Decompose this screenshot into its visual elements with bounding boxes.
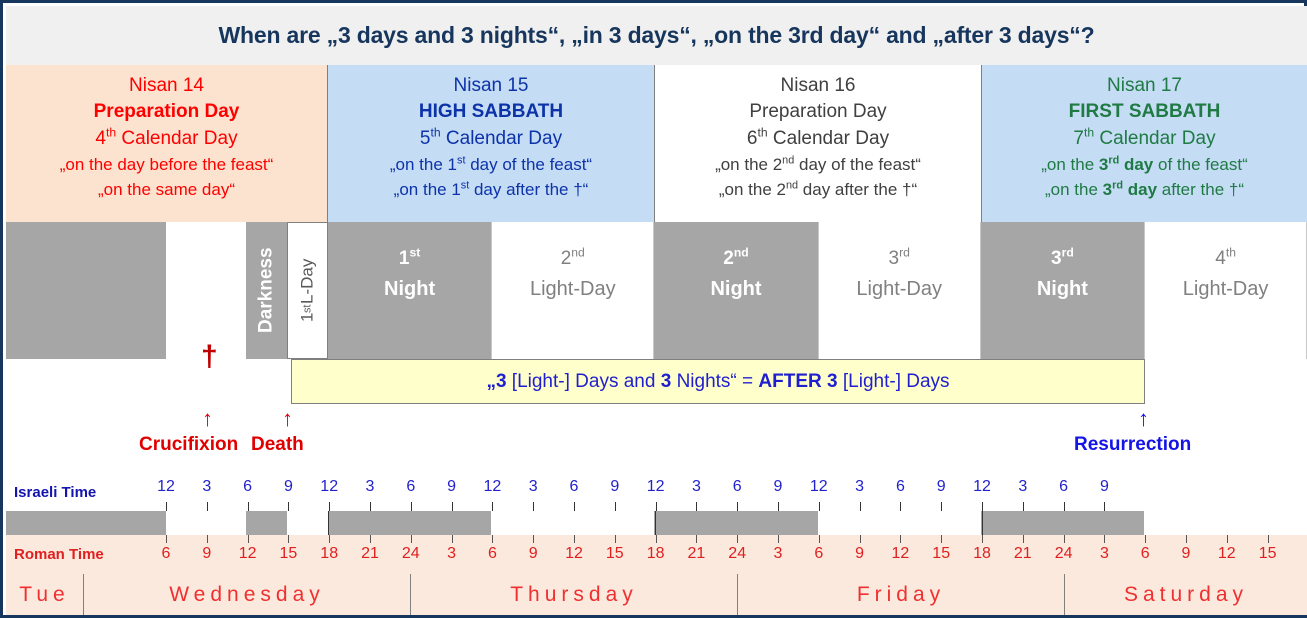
day-kind-label: FIRST SABBATH <box>1069 99 1221 125</box>
day-column-1: Nisan 14Preparation Day4th Calendar Day„… <box>6 65 328 222</box>
roman-tick-mark <box>1064 535 1065 543</box>
event-label-death: Death <box>251 434 304 456</box>
roman-tick-label: 12 <box>565 545 583 563</box>
timeline-block-6: 4thLight-Day <box>1144 222 1307 359</box>
israeli-tick-mark <box>248 502 249 511</box>
israeli-tick-label: 9 <box>1100 478 1109 496</box>
roman-tick-label: 9 <box>855 545 864 563</box>
timeline-band: Darkness1st L-Day1stNight2ndLight-Day2nd… <box>6 222 1307 406</box>
israeli-tick-mark <box>166 502 167 511</box>
israeli-tick-label: 6 <box>243 478 252 496</box>
roman-tick-mark <box>288 535 289 543</box>
israeli-tick-label: 9 <box>774 478 783 496</box>
israeli-tick-mark <box>982 502 983 511</box>
israeli-tick-mark <box>1064 502 1065 511</box>
timeline-block-label: 4thLight-Day <box>1145 244 1306 305</box>
feast-note-2: „on the 2nd day after the †“ <box>719 177 917 202</box>
roman-tick-mark <box>982 535 983 543</box>
israeli-tick-mark <box>370 502 371 511</box>
israeli-tick-label: 9 <box>447 478 456 496</box>
roman-tick-label: 24 <box>402 545 420 563</box>
arrow-up-icon-resurrection: ↑ <box>1138 408 1149 430</box>
roman-tick-mark <box>941 535 942 543</box>
day-kind-label: Preparation Day <box>749 99 886 125</box>
roman-tick-mark <box>411 535 412 543</box>
calendar-day-label: 5th Calendar Day <box>420 125 562 152</box>
cross-icon: † <box>201 342 218 372</box>
roman-tick-label: 9 <box>529 545 538 563</box>
roman-tick-label: 21 <box>361 545 379 563</box>
roman-tick-label: 15 <box>1259 545 1277 563</box>
israeli-tick-mark <box>737 502 738 511</box>
israeli-tick-label: 6 <box>1059 478 1068 496</box>
day-kind-label: HIGH SABBATH <box>419 99 563 125</box>
feast-note-1: „on the day before the feast“ <box>60 152 274 177</box>
roman-tick-mark <box>207 535 208 543</box>
israeli-tick-mark <box>533 502 534 511</box>
israeli-tick-mark <box>941 502 942 511</box>
roman-tick-mark <box>1227 535 1228 543</box>
israeli-tick-label: 12 <box>647 478 665 496</box>
roman-tick-label: 18 <box>320 545 338 563</box>
israeli-tick-label: 12 <box>320 478 338 496</box>
israeli-tick-label: 9 <box>937 478 946 496</box>
roman-tick-label: 15 <box>279 545 297 563</box>
timeline-block-label: 2ndLight-Day <box>492 244 653 305</box>
roman-tick-mark <box>656 535 657 543</box>
arrow-up-icon-death: ↑ <box>282 408 293 430</box>
night-segment-2 <box>246 511 287 535</box>
roman-tick-label: 18 <box>973 545 991 563</box>
roman-tick-mark <box>248 535 249 543</box>
nisan-label: Nisan 16 <box>781 73 856 99</box>
feast-note-2: „on the same day“ <box>98 177 235 202</box>
day-column-4: Nisan 17FIRST SABBATH7th Calendar Day„on… <box>982 65 1307 222</box>
timeline-block-label: 1stNight <box>328 244 491 305</box>
israeli-tick-label: 3 <box>529 478 538 496</box>
roman-tick-label: 24 <box>1055 545 1073 563</box>
israeli-tick-label: 12 <box>483 478 501 496</box>
nisan-label: Nisan 14 <box>129 73 204 99</box>
first-light-day-vertical-label: 1st L-Day <box>287 222 328 359</box>
israeli-tick-mark <box>492 502 493 511</box>
roman-tick-label: 6 <box>1141 545 1150 563</box>
title-bar: When are „3 days and 3 nights“, „in 3 da… <box>6 6 1307 66</box>
israeli-tick-label: 12 <box>973 478 991 496</box>
israeli-time-row: Israeli Time 123691236912369123691236912… <box>6 476 1307 511</box>
timeline-block-2: 2ndLight-Day <box>491 222 654 359</box>
israeli-tick-label: 12 <box>810 478 828 496</box>
diagram-root: When are „3 days and 3 nights“, „in 3 da… <box>0 0 1307 618</box>
calendar-day-label: 7th Calendar Day <box>1073 125 1215 152</box>
summary-banner: „3 [Light-] Days and 3 Nights“ = AFTER 3… <box>291 359 1145 404</box>
night-segment-3 <box>328 511 491 535</box>
roman-tick-label: 6 <box>162 545 171 563</box>
day-column-3: Nisan 16Preparation Day6th Calendar Day„… <box>655 65 982 222</box>
event-label-crucifixion: Crucifixion <box>139 434 238 456</box>
roman-tick-mark <box>1145 535 1146 543</box>
calendar-day-label: 6th Calendar Day <box>747 125 889 152</box>
roman-tick-label: 3 <box>774 545 783 563</box>
roman-tick-mark <box>1186 535 1187 543</box>
israeli-tick-mark <box>656 502 657 511</box>
roman-tick-label: 24 <box>728 545 746 563</box>
night-segment-1 <box>6 511 166 535</box>
israeli-tick-mark <box>900 502 901 511</box>
strip-day-divider-1 <box>328 511 329 535</box>
israeli-tick-label: 3 <box>366 478 375 496</box>
israeli-tick-label: 3 <box>855 478 864 496</box>
israeli-tick-label: 9 <box>284 478 293 496</box>
timeline-block-1: 1stNight <box>328 222 491 359</box>
timeline-block-3: 2ndNight <box>654 222 817 359</box>
israeli-tick-mark <box>574 502 575 511</box>
israeli-tick-label: 9 <box>610 478 619 496</box>
roman-tick-mark <box>737 535 738 543</box>
roman-tick-mark <box>696 535 697 543</box>
roman-tick-label: 3 <box>447 545 456 563</box>
day-header-row: Nisan 14Preparation Day4th Calendar Day„… <box>6 65 1307 222</box>
roman-tick-mark <box>1268 535 1269 543</box>
roman-time-row: Roman Time 69121518212436912151821243691… <box>6 535 1307 574</box>
roman-tick-label: 9 <box>1182 545 1191 563</box>
roman-tick-label: 18 <box>647 545 665 563</box>
weekday-tue: Tue <box>6 574 84 615</box>
israeli-tick-mark <box>1023 502 1024 511</box>
israeli-tick-mark <box>778 502 779 511</box>
israeli-tick-mark <box>207 502 208 511</box>
arrow-up-icon-crucifixion: ↑ <box>202 408 213 430</box>
israeli-tick-mark <box>819 502 820 511</box>
roman-tick-mark <box>615 535 616 543</box>
timeline-block-label: 2ndNight <box>654 244 817 305</box>
roman-tick-mark <box>329 535 330 543</box>
roman-tick-mark <box>778 535 779 543</box>
roman-tick-mark <box>492 535 493 543</box>
roman-tick-label: 6 <box>814 545 823 563</box>
roman-time-label: Roman Time <box>14 546 104 563</box>
weekday-wednesday: Wednesday <box>84 574 411 615</box>
roman-tick-label: 15 <box>932 545 950 563</box>
night-segment-4 <box>654 511 817 535</box>
roman-tick-mark <box>166 535 167 543</box>
roman-tick-label: 12 <box>891 545 909 563</box>
day-night-strip <box>6 511 1307 535</box>
roman-tick-label: 6 <box>488 545 497 563</box>
summary-banner-text: „3 [Light-] Days and 3 Nights“ = AFTER 3… <box>486 371 949 393</box>
israeli-tick-label: 3 <box>202 478 211 496</box>
roman-tick-mark <box>1104 535 1105 543</box>
timeline-block-4: 3rdLight-Day <box>818 222 981 359</box>
roman-tick-label: 21 <box>687 545 705 563</box>
feast-note-1: „on the 1st day of the feast“ <box>390 152 592 177</box>
israeli-tick-mark <box>288 502 289 511</box>
roman-tick-mark <box>452 535 453 543</box>
israeli-tick-label: 12 <box>157 478 175 496</box>
events-row: ↑Crucifixion↑Death↑Resurrection <box>6 406 1307 477</box>
event-label-resurrection: Resurrection <box>1074 434 1191 456</box>
israeli-tick-mark <box>615 502 616 511</box>
weekday-row: TueWednesdayThursdayFridaySaturday <box>6 574 1307 615</box>
night-segment-5 <box>981 511 1144 535</box>
israeli-tick-label: 6 <box>570 478 579 496</box>
strip-day-divider-2 <box>655 511 656 535</box>
roman-tick-label: 3 <box>1100 545 1109 563</box>
roman-tick-mark <box>1023 535 1024 543</box>
israeli-tick-label: 3 <box>1018 478 1027 496</box>
israeli-tick-label: 6 <box>733 478 742 496</box>
roman-tick-label: 15 <box>606 545 624 563</box>
roman-tick-mark <box>574 535 575 543</box>
roman-tick-mark <box>900 535 901 543</box>
roman-tick-mark <box>370 535 371 543</box>
israeli-tick-label: 3 <box>692 478 701 496</box>
day-column-2: Nisan 15HIGH SABBATH5th Calendar Day„on … <box>328 65 655 222</box>
weekday-friday: Friday <box>738 574 1065 615</box>
israeli-tick-mark <box>329 502 330 511</box>
calendar-day-label: 4th Calendar Day <box>95 125 237 152</box>
israeli-tick-mark <box>411 502 412 511</box>
israeli-tick-mark <box>860 502 861 511</box>
feast-note-1: „on the 2nd day of the feast“ <box>715 152 921 177</box>
page-title: When are „3 days and 3 nights“, „in 3 da… <box>219 22 1095 49</box>
roman-tick-label: 21 <box>1014 545 1032 563</box>
roman-tick-label: 9 <box>202 545 211 563</box>
israeli-tick-label: 6 <box>896 478 905 496</box>
day-kind-label: Preparation Day <box>94 99 240 125</box>
timeline-block-label: 3rdNight <box>981 244 1144 305</box>
israeli-tick-label: 6 <box>406 478 415 496</box>
feast-note-2: „on the 1st day after the †“ <box>394 177 589 202</box>
timeline-block-5: 3rdNight <box>981 222 1144 359</box>
roman-tick-label: 12 <box>239 545 257 563</box>
timeline-block-label: 3rdLight-Day <box>819 244 980 305</box>
nisan-label: Nisan 15 <box>454 73 529 99</box>
wednesday-light-day-block <box>166 222 246 359</box>
darkness-vertical-label: Darkness <box>246 222 287 359</box>
israeli-tick-mark <box>452 502 453 511</box>
israeli-tick-mark <box>1104 502 1105 511</box>
israeli-tick-mark <box>696 502 697 511</box>
israeli-time-label: Israeli Time <box>14 484 96 501</box>
pre-night-block <box>6 222 166 359</box>
roman-tick-mark <box>860 535 861 543</box>
roman-tick-mark <box>533 535 534 543</box>
feast-note-2: „on the 3rd day after the †“ <box>1045 177 1244 202</box>
weekday-thursday: Thursday <box>411 574 738 615</box>
roman-tick-label: 12 <box>1218 545 1236 563</box>
feast-note-1: „on the 3rd day of the feast“ <box>1041 152 1248 177</box>
strip-day-divider-3 <box>982 511 983 535</box>
nisan-label: Nisan 17 <box>1107 73 1182 99</box>
roman-tick-mark <box>819 535 820 543</box>
weekday-saturday: Saturday <box>1065 574 1307 615</box>
